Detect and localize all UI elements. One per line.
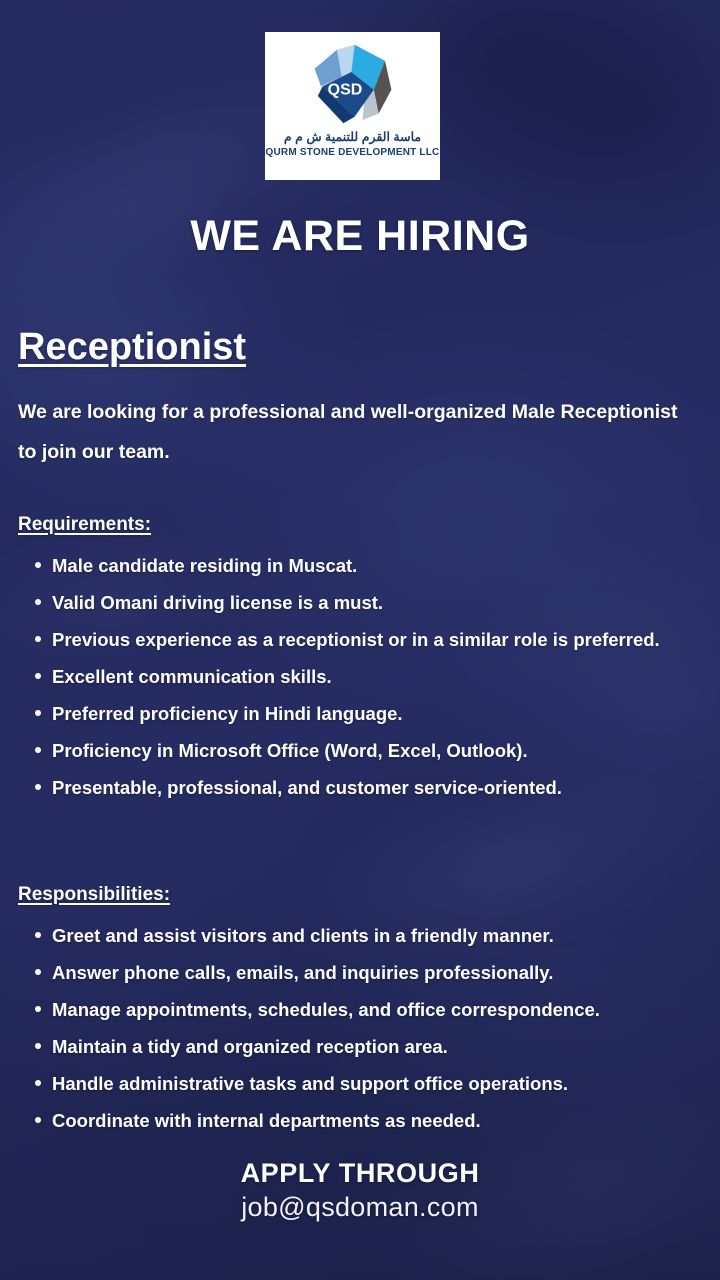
list-item: Valid Omani driving license is a must. — [18, 584, 698, 621]
responsibilities-heading: Responsibilities: — [18, 884, 708, 906]
svg-text:QSD: QSD — [327, 81, 362, 98]
list-item: Previous experience as a receptionist or… — [18, 621, 698, 658]
responsibilities-list: Greet and assist visitors and clients in… — [18, 917, 708, 1139]
hiring-poster: QSD ماسة القرم للتنمية ش م م QURM STONE … — [0, 0, 720, 1280]
company-logo-card: QSD ماسة القرم للتنمية ش م م QURM STONE … — [265, 32, 440, 180]
list-item-label: Excellent communication skills. — [52, 666, 332, 687]
requirements-section: Requirements: Male candidate residing in… — [18, 514, 698, 806]
list-item-label: Presentable, professional, and customer … — [52, 777, 562, 798]
page-title: WE ARE HIRING — [0, 212, 720, 261]
apply-through-heading: APPLY THROUGH — [0, 1158, 720, 1189]
bullet-dot-icon — [35, 969, 41, 975]
list-item: Handle administrative tasks and support … — [18, 1065, 708, 1102]
list-item: Answer phone calls, emails, and inquirie… — [18, 954, 708, 991]
bullet-dot-icon — [35, 1043, 41, 1049]
list-item: Male candidate residing in Muscat. — [18, 547, 698, 584]
apply-email-address[interactable]: job@qsdoman.com — [0, 1192, 720, 1223]
list-item-label: Valid Omani driving license is a must. — [52, 592, 383, 613]
list-item: Manage appointments, schedules, and offi… — [18, 991, 708, 1028]
list-item-label: Male candidate residing in Muscat. — [52, 555, 357, 576]
list-item-label: Previous experience as a receptionist or… — [52, 629, 660, 650]
list-item: Maintain a tidy and organized reception … — [18, 1028, 708, 1065]
bullet-dot-icon — [35, 747, 41, 753]
list-item-label: Coordinate with internal departments as … — [52, 1110, 481, 1131]
list-item-label: Handle administrative tasks and support … — [52, 1073, 568, 1094]
requirements-heading: Requirements: — [18, 514, 698, 536]
list-item: Proficiency in Microsoft Office (Word, E… — [18, 732, 698, 769]
list-item-label: Preferred proficiency in Hindi language. — [52, 703, 403, 724]
bullet-dot-icon — [35, 636, 41, 642]
list-item-label: Proficiency in Microsoft Office (Word, E… — [52, 740, 528, 761]
list-item-label: Answer phone calls, emails, and inquirie… — [52, 962, 553, 983]
logo-arabic-name: ماسة القرم للتنمية ش م م — [284, 131, 421, 145]
bullet-dot-icon — [35, 1006, 41, 1012]
list-item: Excellent communication skills. — [18, 658, 698, 695]
bullet-dot-icon — [35, 562, 41, 568]
requirements-list: Male candidate residing in Muscat. Valid… — [18, 547, 698, 806]
bullet-dot-icon — [35, 1080, 41, 1086]
bullet-dot-icon — [35, 932, 41, 938]
job-title: Receptionist — [18, 326, 246, 369]
job-intro-text: We are looking for a professional and we… — [18, 392, 686, 472]
bullet-dot-icon — [35, 1117, 41, 1123]
bullet-dot-icon — [35, 599, 41, 605]
qsd-gem-logo-icon: QSD — [305, 40, 401, 128]
list-item-label: Manage appointments, schedules, and offi… — [52, 999, 600, 1020]
list-item-label: Maintain a tidy and organized reception … — [52, 1036, 448, 1057]
poster-content: QSD ماسة القرم للتنمية ش م م QURM STONE … — [0, 0, 720, 1280]
logo-english-name: QURM STONE DEVELOPMENT LLC — [266, 147, 440, 158]
list-item-label: Greet and assist visitors and clients in… — [52, 925, 554, 946]
list-item: Presentable, professional, and customer … — [18, 769, 698, 806]
list-item: Preferred proficiency in Hindi language. — [18, 695, 698, 732]
bullet-dot-icon — [35, 710, 41, 716]
responsibilities-section: Responsibilities: Greet and assist visit… — [18, 884, 708, 1139]
bullet-dot-icon — [35, 673, 41, 679]
list-item: Coordinate with internal departments as … — [18, 1102, 708, 1139]
list-item: Greet and assist visitors and clients in… — [18, 917, 708, 954]
bullet-dot-icon — [35, 784, 41, 790]
